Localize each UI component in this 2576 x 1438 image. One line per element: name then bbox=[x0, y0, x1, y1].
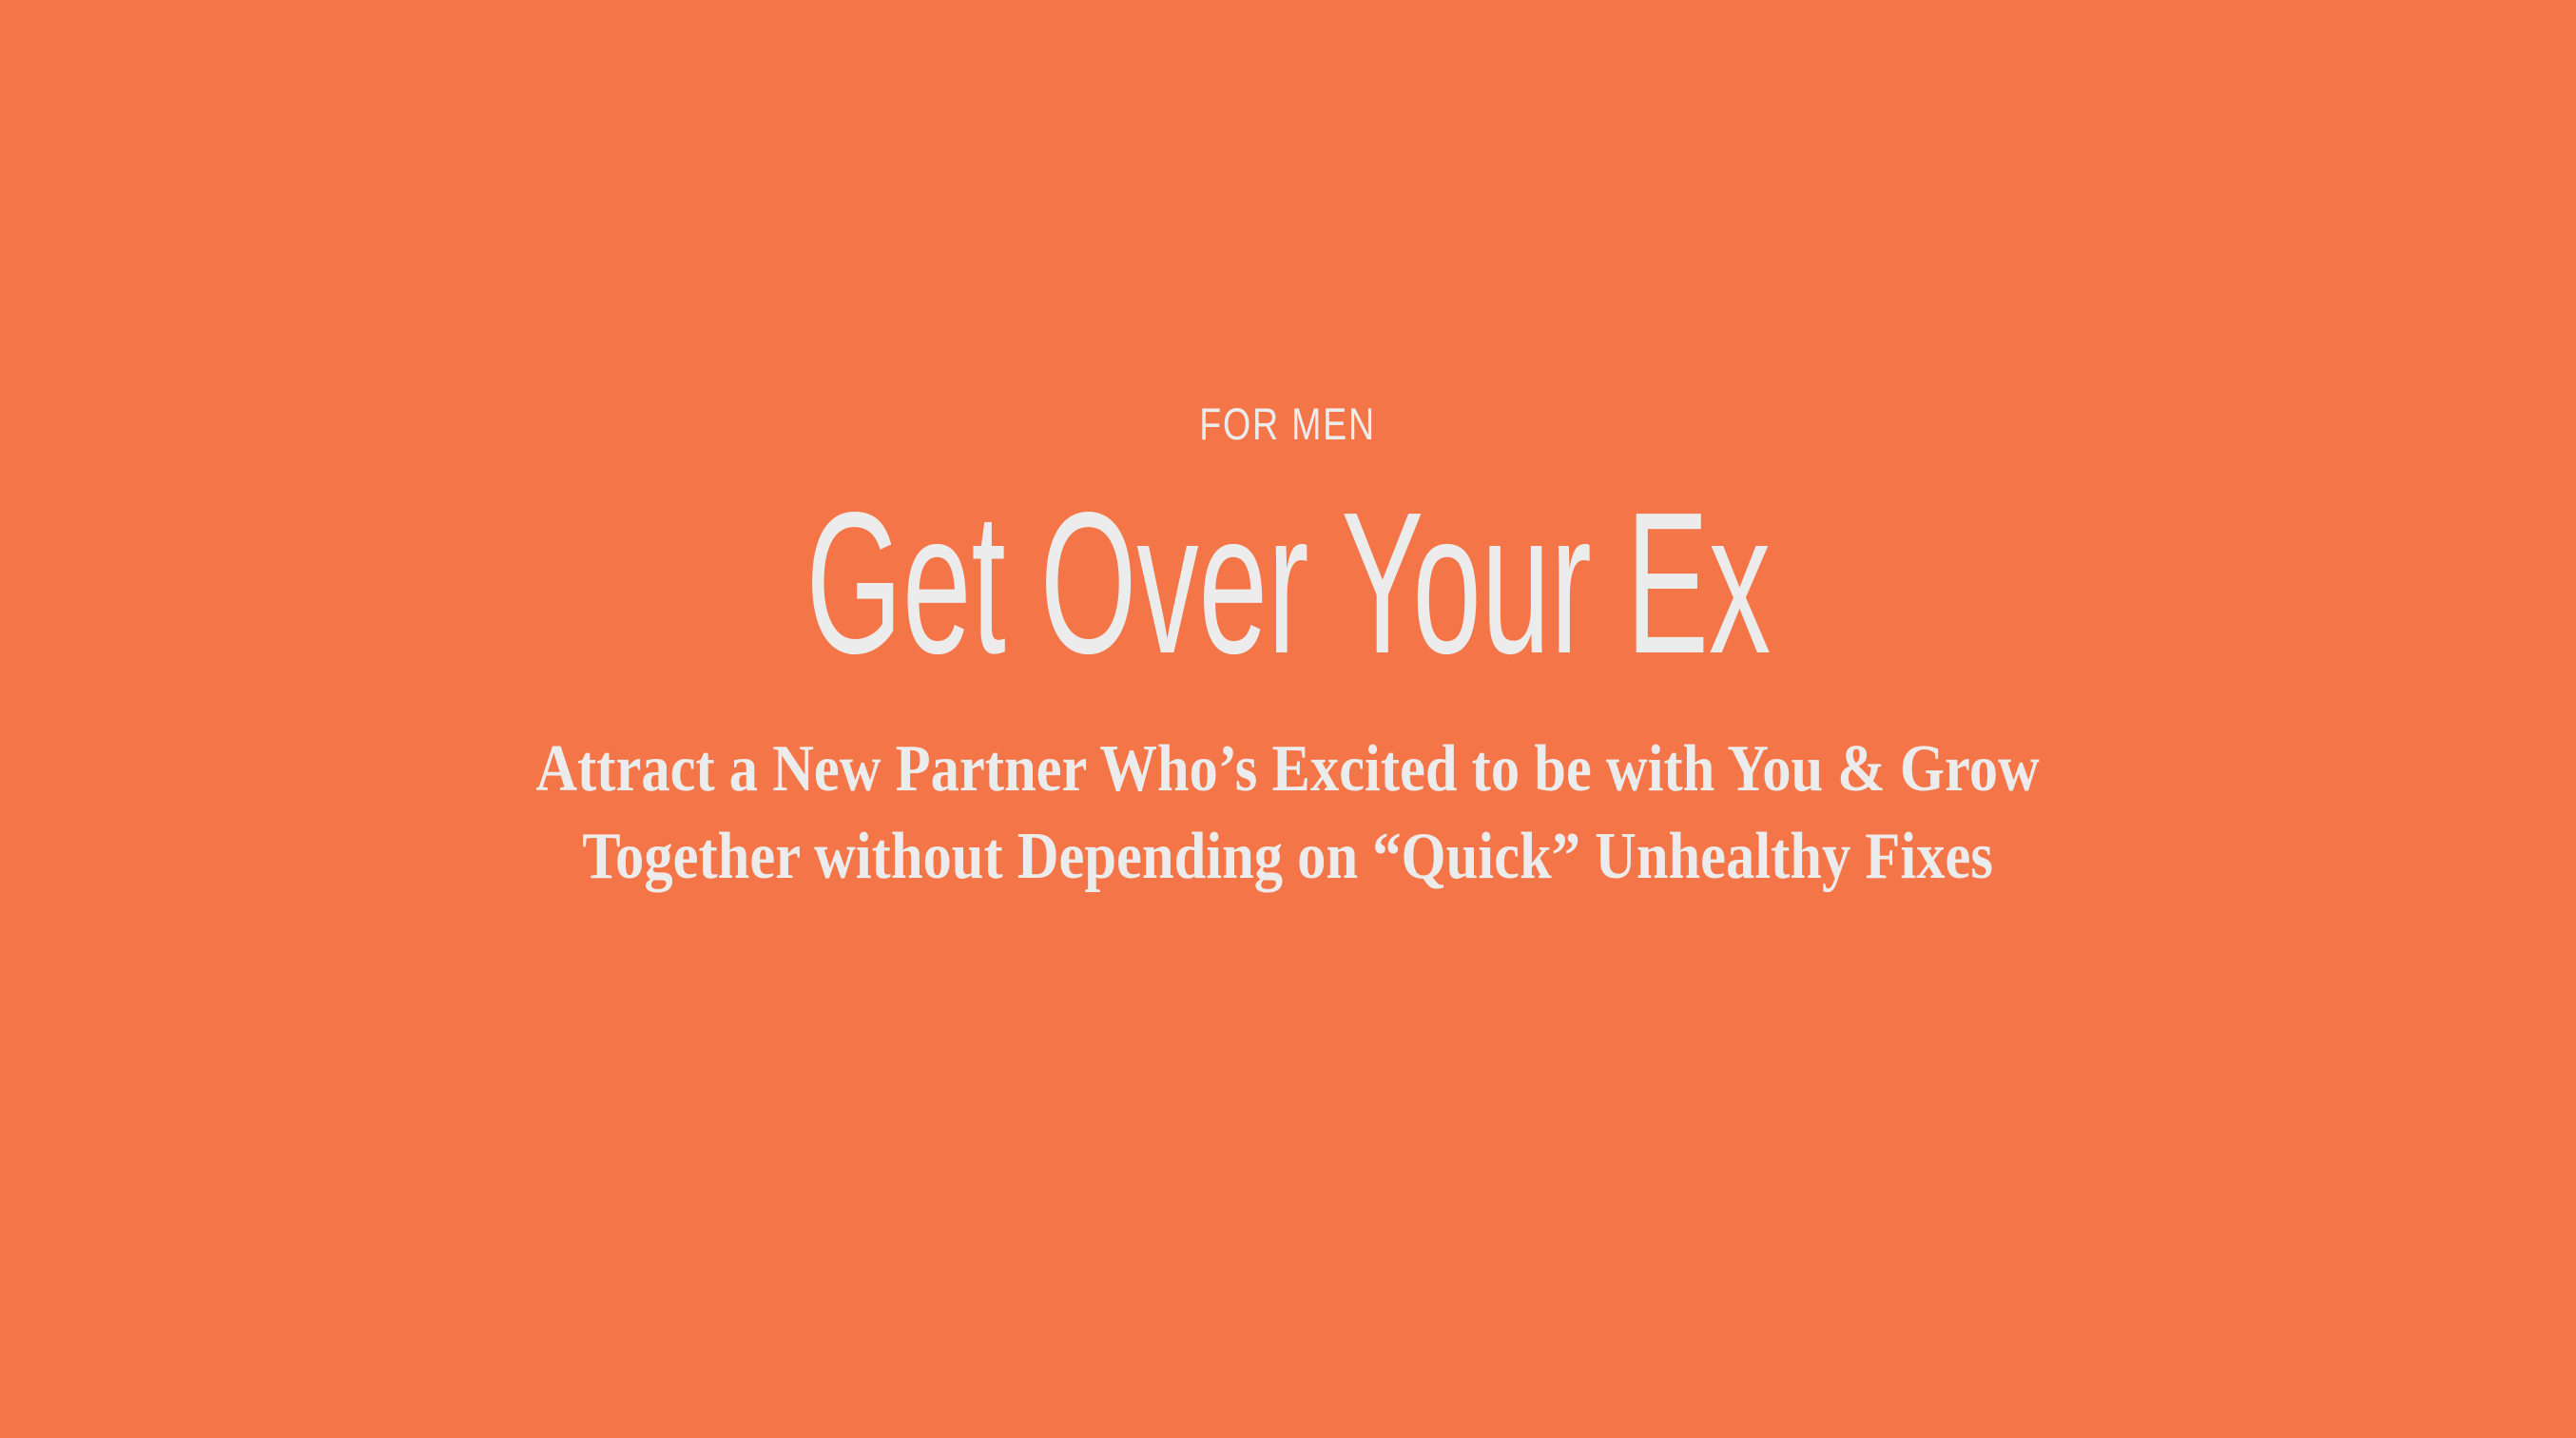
hero-subtitle-line-1: Attract a New Partner Who’s Excited to b… bbox=[536, 726, 2040, 813]
hero-content: FOR MEN Get Over Your Ex Attract a New P… bbox=[0, 401, 2576, 901]
page-title: Get Over Your Ex bbox=[805, 482, 1771, 684]
hero-eyebrow: FOR MEN bbox=[1200, 401, 1377, 446]
hero-subtitle-line-2: Together without Depending on “Quick” Un… bbox=[536, 813, 2040, 901]
hero-subtitle: Attract a New Partner Who’s Excited to b… bbox=[536, 726, 2040, 901]
hero-banner: FOR MEN Get Over Your Ex Attract a New P… bbox=[0, 0, 2576, 1438]
